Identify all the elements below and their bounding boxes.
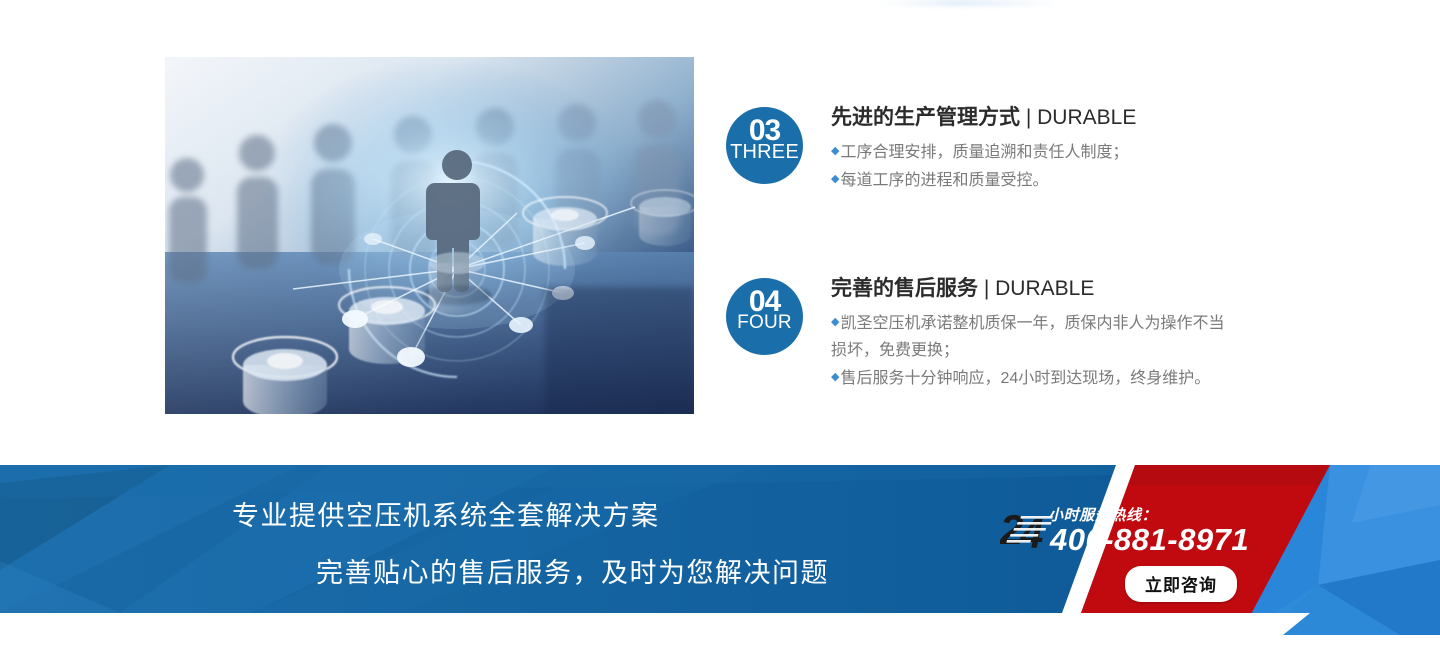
feature-title-separator: | — [978, 277, 995, 300]
badge-03: 03 THREE — [726, 107, 803, 184]
feature-body-03: 先进的生产管理方式 | DURABLE ◆工序合理安排，质量追溯和责任人制度； … — [831, 105, 1136, 194]
feature-title-04: 完善的售后服务 | DURABLE — [831, 276, 1235, 302]
diamond-bullet-icon: ◆ — [831, 173, 839, 185]
feature-title-en: DURABLE — [995, 277, 1094, 300]
feature-title-03: 先进的生产管理方式 | DURABLE — [831, 105, 1136, 131]
feature-bullet: ◆每道工序的进程和质量受控。 — [831, 166, 1136, 194]
feature-bullet: ◆售后服务十分钟响应，24小时到达现场，终身维护。 — [831, 364, 1235, 392]
feature-bullet-text: 售后服务十分钟响应，24小时到达现场，终身维护。 — [840, 370, 1210, 387]
feature-block-03: 03 THREE 先进的生产管理方式 | DURABLE ◆工序合理安排，质量追… — [726, 105, 1136, 194]
feature-title-en: DURABLE — [1037, 106, 1136, 129]
badge-word: FOUR — [726, 312, 803, 334]
feature-bullet: ◆工序合理安排，质量追溯和责任人制度； — [831, 138, 1136, 166]
top-residual-strip — [880, 0, 1060, 6]
feature-bullet-text: 凯圣空压机承诺整机质保一年，质保内非人为操作不当损坏，免费更换； — [831, 315, 1224, 359]
feature-title-cn: 完善的售后服务 — [831, 277, 978, 300]
feature-bullet-text: 工序合理安排，质量追溯和责任人制度； — [840, 144, 1128, 161]
feature-title-cn: 先进的生产管理方式 — [831, 106, 1020, 129]
feature-body-04: 完善的售后服务 | DURABLE ◆凯圣空压机承诺整机质保一年，质保内非人为操… — [831, 276, 1235, 392]
badge-word: THREE — [726, 141, 803, 163]
feature-block-04: 04 FOUR 完善的售后服务 | DURABLE ◆凯圣空压机承诺整机质保一年… — [726, 276, 1235, 392]
diamond-bullet-icon: ◆ — [831, 145, 839, 157]
feature-bullet-text: 每道工序的进程和质量受控。 — [840, 172, 1048, 189]
consult-now-button[interactable]: 立即咨询 — [1125, 566, 1237, 602]
diamond-bullet-icon: ◆ — [831, 316, 839, 328]
hotline-number: 400-881-8971 — [1050, 522, 1249, 558]
diamond-bullet-icon: ◆ — [831, 371, 839, 383]
feature-title-separator: | — [1020, 106, 1037, 129]
hero-image — [165, 57, 694, 414]
hotline-panel: 2 4 小时服务热线： 400-881-8971 立即咨询 — [1000, 500, 1300, 615]
badge-04: 04 FOUR — [726, 278, 803, 355]
feature-bullet: ◆凯圣空压机承诺整机质保一年，质保内非人为操作不当损坏，免费更换； — [831, 309, 1235, 364]
